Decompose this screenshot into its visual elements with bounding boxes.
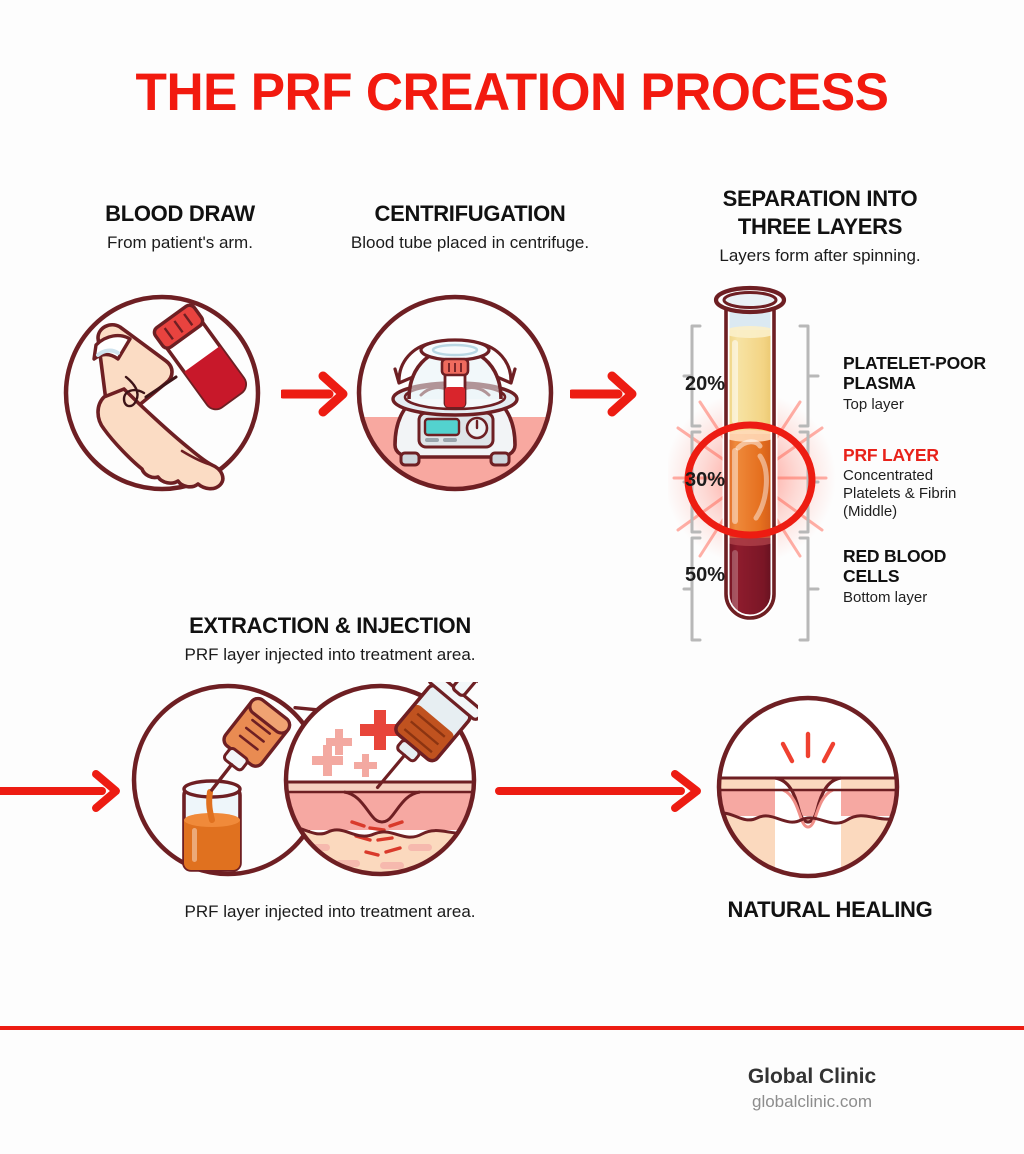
centrifuge-icon [355, 293, 555, 493]
layer-percent-prf: 30% [663, 469, 725, 492]
layer-name-plasma-line1: PLATELET-POOR [843, 353, 1018, 373]
step-heading-blood-draw: BLOOD DRAW From patient's arm. [40, 200, 320, 255]
step-title-natural-healing: NATURAL HEALING [640, 897, 1020, 923]
layer-name-prf: PRF LAYER [843, 445, 1018, 465]
page-title: THE PRF CREATION PROCESS [15, 62, 1008, 123]
injection-icon [282, 682, 478, 878]
layer-label-prf: PRF LAYER Concentrated Platelets & Fibri… [843, 445, 1018, 521]
footer-divider [0, 1026, 1024, 1030]
step-subtitle-separation: Layers form after spinning. [630, 245, 1010, 267]
layer-note-prf-line3: (Middle) [843, 503, 1018, 521]
layer-note-prf-line2: Platelets & Fibrin [843, 485, 1018, 503]
layer-note-plasma: Top layer [843, 396, 1018, 414]
arrow-right-icon-4 [495, 762, 705, 820]
arrow-right-icon-2 [570, 368, 638, 420]
step-title-extraction: EXTRACTION & INJECTION [95, 612, 565, 640]
extraction-bottom-caption: PRF layer injected into treatment area. [155, 900, 505, 925]
infographic-page: THE PRF CREATION PROCESS BLOOD DRAW From… [0, 0, 1024, 1154]
layer-name-rbc-line2: CELLS [843, 566, 1018, 586]
layer-name-rbc-line1: RED BLOOD [843, 546, 1018, 566]
step-subtitle-extraction: PRF layer injected into treatment area. [95, 644, 565, 666]
step-title-separation-line1: SEPARATION INTO [630, 185, 1010, 213]
step-heading-centrifugation: CENTRIFUGATION Blood tube placed in cent… [320, 200, 620, 255]
test-tube-diagram [668, 278, 868, 648]
layer-note-rbc: Bottom layer [843, 589, 1018, 607]
step-title-separation-line2: THREE LAYERS [630, 213, 1010, 241]
layer-label-plasma: PLATELET-POOR PLASMA Top layer [843, 353, 1018, 414]
step-heading-extraction: EXTRACTION & INJECTION PRF layer injecte… [95, 612, 565, 667]
layer-percent-plasma: 20% [663, 373, 725, 396]
step-title-centrifugation: CENTRIFUGATION [320, 200, 620, 228]
step-subtitle-blood-draw: From patient's arm. [40, 232, 320, 254]
arrow-right-icon-1 [281, 368, 349, 420]
layer-name-plasma-line2: PLASMA [843, 373, 1018, 393]
layer-percent-rbc: 50% [663, 564, 725, 587]
step-title-blood-draw: BLOOD DRAW [40, 200, 320, 228]
step-subtitle-centrifugation: Blood tube placed in centrifuge. [320, 232, 620, 254]
layer-note-prf-line1: Concentrated [843, 467, 1018, 485]
blood-draw-icon [62, 293, 262, 493]
natural-healing-icon [715, 694, 901, 880]
arrow-right-icon-3 [0, 762, 124, 820]
step-heading-separation: SEPARATION INTO THREE LAYERS Layers form… [630, 185, 1010, 268]
footer-url: globalclinic.com [612, 1092, 1012, 1112]
layer-label-rbc: RED BLOOD CELLS Bottom layer [843, 546, 1018, 607]
footer-brand: Global Clinic [612, 1065, 1012, 1089]
